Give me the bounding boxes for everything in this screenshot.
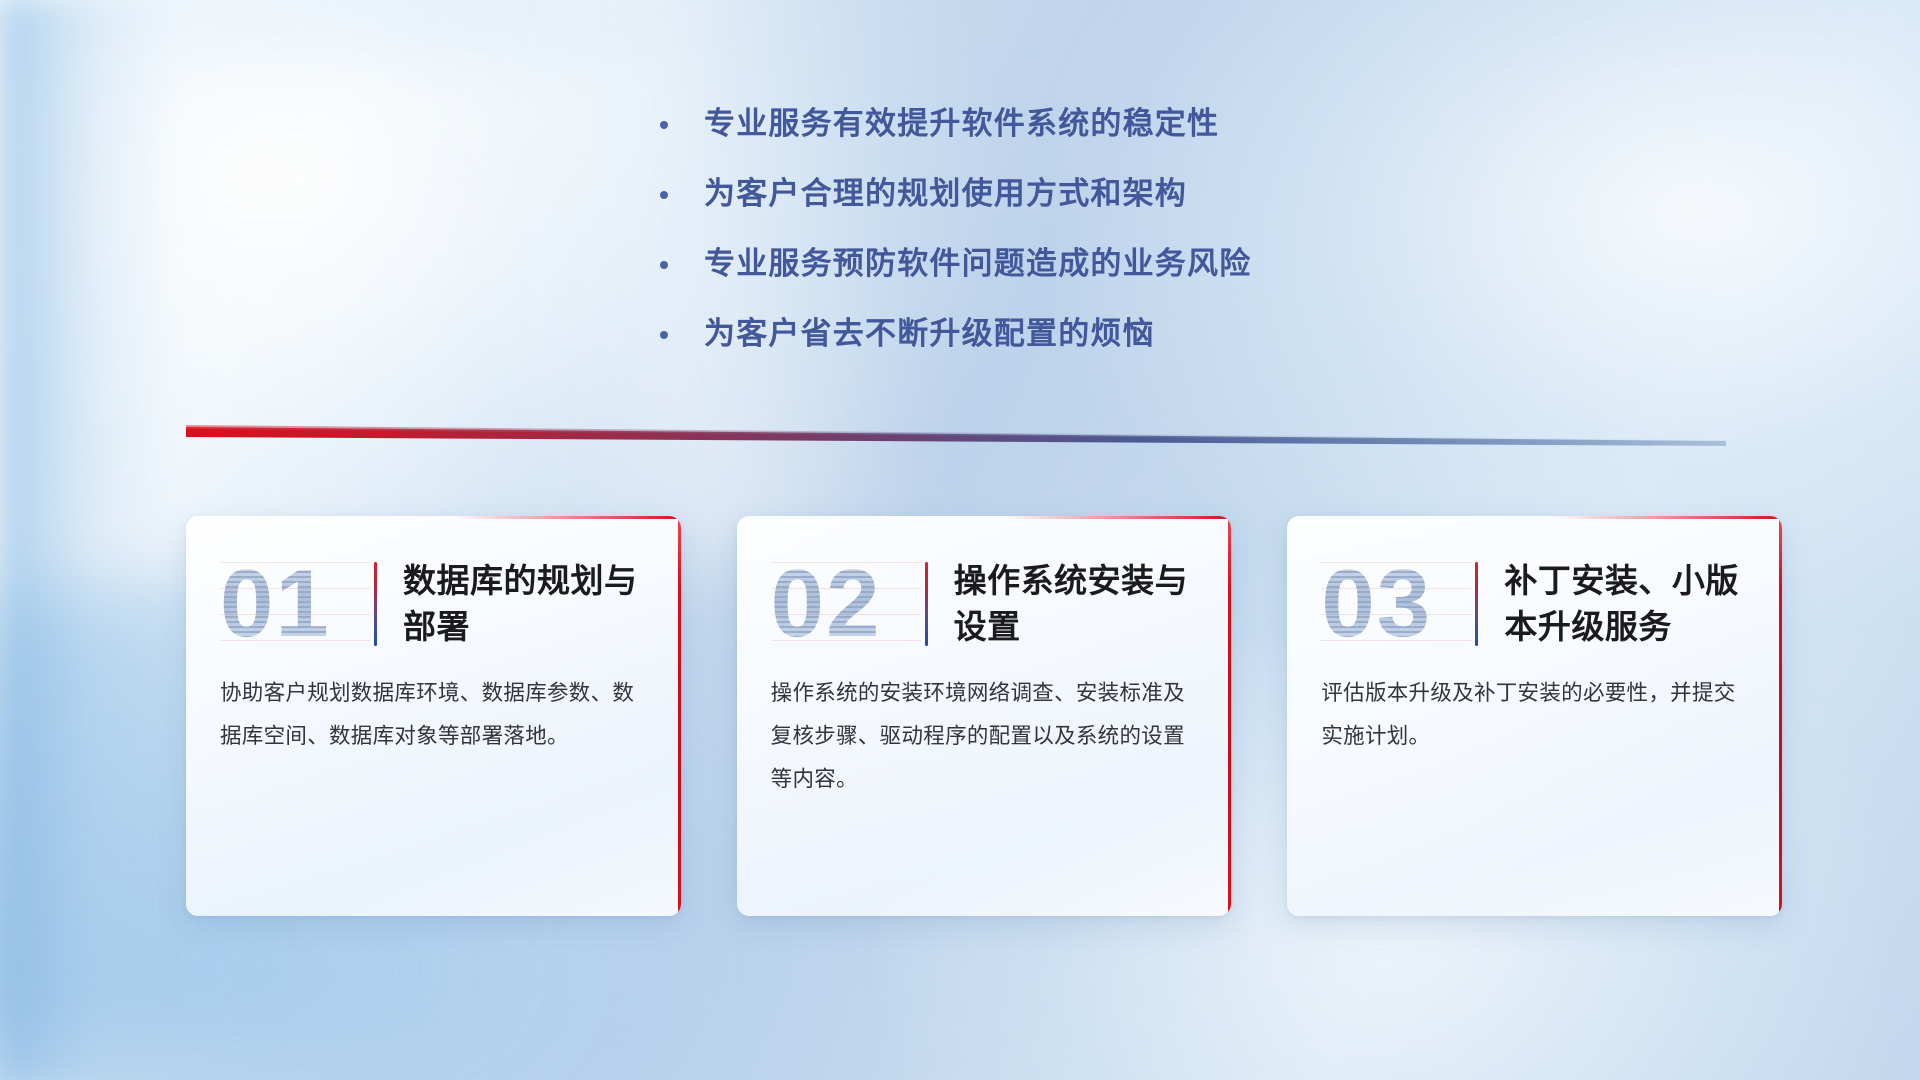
- card-header: 03 补丁安装、小版本升级服务: [1287, 516, 1782, 666]
- list-item: 为客户合理的规划使用方式和架构: [660, 174, 1480, 214]
- card-title-divider: [374, 562, 377, 646]
- card-title: 补丁安装、小版本升级服务: [1504, 558, 1752, 650]
- divider-wedge-shape: [186, 424, 1726, 450]
- card-title-divider: [1475, 562, 1478, 646]
- list-item: 专业服务有效提升软件系统的稳定性: [660, 104, 1480, 144]
- card-description: 评估版本升级及补丁安装的必要性，并提交实施计划。: [1287, 666, 1782, 758]
- bullet-dot-icon: [660, 191, 668, 199]
- card-header: 01 数据库的规划与部署: [186, 516, 681, 666]
- card-header: 02 操作系统安装与设置: [737, 516, 1232, 666]
- bullet-text: 专业服务预防软件问题造成的业务风险: [704, 244, 1251, 284]
- bullet-text: 专业服务有效提升软件系统的稳定性: [704, 104, 1219, 144]
- service-card-03[interactable]: 03 补丁安装、小版本升级服务 评估版本升级及补丁安装的必要性，并提交实施计划。: [1287, 516, 1782, 916]
- bullet-dot-icon: [660, 121, 668, 129]
- section-divider: [186, 424, 1726, 450]
- list-item: 为客户省去不断升级配置的烦恼: [660, 314, 1480, 354]
- bullet-dot-icon: [660, 261, 668, 269]
- bullet-text: 为客户省去不断升级配置的烦恼: [704, 314, 1155, 354]
- card-title-divider: [925, 562, 928, 646]
- benefits-bullet-list: 专业服务有效提升软件系统的稳定性 为客户合理的规划使用方式和架构 专业服务预防软…: [660, 104, 1480, 354]
- bullet-text: 为客户合理的规划使用方式和架构: [704, 174, 1187, 214]
- list-item: 专业服务预防软件问题造成的业务风险: [660, 244, 1480, 284]
- card-title: 操作系统安装与设置: [954, 558, 1202, 650]
- card-description: 协助客户规划数据库环境、数据库参数、数据库空间、数据库对象等部署落地。: [186, 666, 681, 758]
- card-number: 03: [1321, 556, 1471, 652]
- card-number: 02: [771, 556, 921, 652]
- service-card-list: 01 数据库的规划与部署 协助客户规划数据库环境、数据库参数、数据库空间、数据库…: [186, 516, 1782, 916]
- service-card-02[interactable]: 02 操作系统安装与设置 操作系统的安装环境网络调查、安装标准及复核步骤、驱动程…: [737, 516, 1232, 916]
- service-card-01[interactable]: 01 数据库的规划与部署 协助客户规划数据库环境、数据库参数、数据库空间、数据库…: [186, 516, 681, 916]
- bullet-dot-icon: [660, 331, 668, 339]
- card-title: 数据库的规划与部署: [403, 558, 651, 650]
- card-description: 操作系统的安装环境网络调查、安装标准及复核步骤、驱动程序的配置以及系统的设置等内…: [737, 666, 1232, 801]
- card-number: 01: [220, 556, 370, 652]
